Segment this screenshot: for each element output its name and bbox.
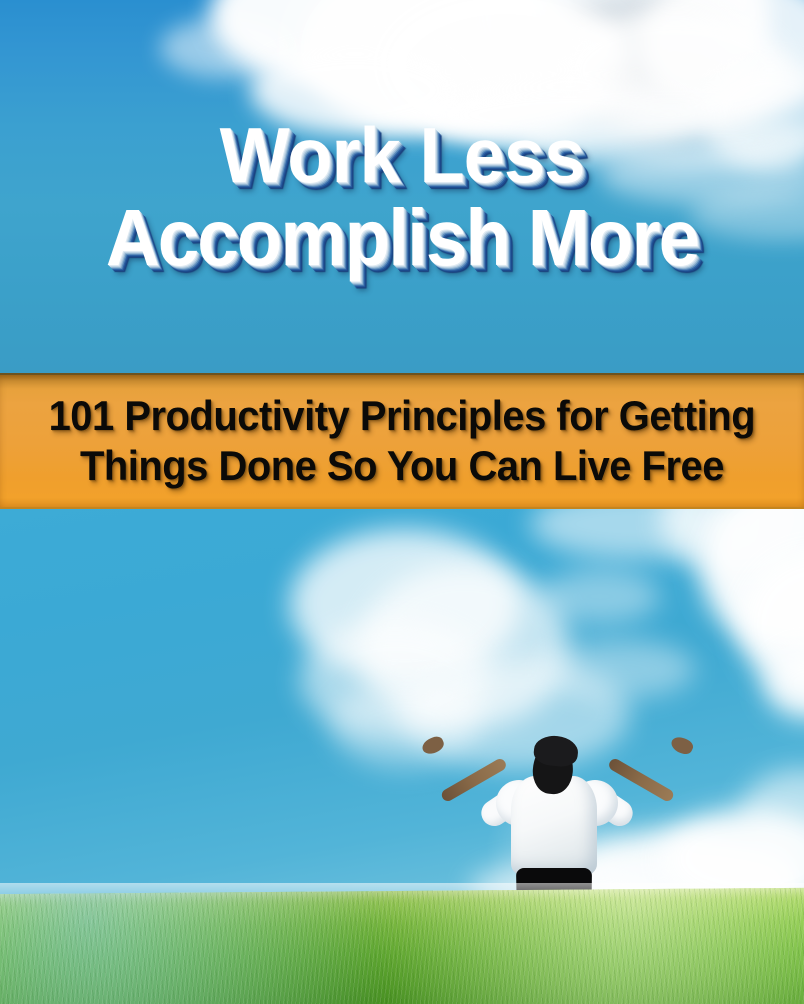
cloud-shape: [540, 569, 660, 624]
bottom-scene-photo: [0, 509, 804, 1004]
book-cover: Work Less Accomplish More 101 Productivi…: [0, 0, 804, 1004]
grass-field: [0, 888, 804, 1004]
title-line-2: Accomplish More: [28, 200, 776, 276]
cloud-shape: [545, 639, 695, 699]
person-right-hand: [669, 734, 695, 757]
title-line-1: Work Less: [20, 118, 784, 192]
subtitle-line-1: 101 Productivity Principles for Getting: [49, 394, 756, 438]
subtitle-band: 101 Productivity Principles for Getting …: [0, 373, 804, 509]
subtitle-line-2: Things Done So You Can Live Free: [80, 444, 724, 488]
cover-title: Work Less Accomplish More: [0, 118, 804, 276]
